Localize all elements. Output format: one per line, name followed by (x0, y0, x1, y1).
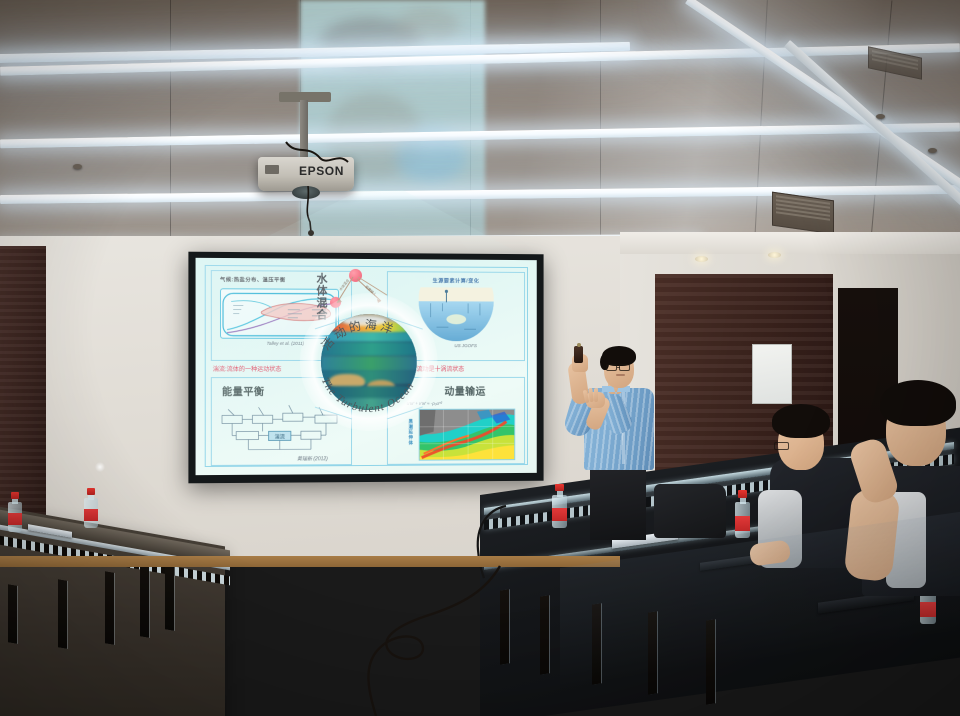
wall-light-spot (95, 462, 105, 472)
attendee-2-hair (880, 380, 956, 426)
attendee-2 (840, 378, 960, 608)
presenter-finger (594, 388, 598, 402)
desk-slat (165, 559, 174, 631)
smoke-detector-icon (73, 164, 82, 169)
presenter-glasses-bridge (617, 367, 620, 368)
presenter-remote-tip-icon (577, 343, 581, 347)
projection-screen: 气候:热盐分布、温压平衡 Talley et al. (2011) (196, 258, 537, 475)
projector-ir-sensor-icon (265, 165, 279, 174)
attendee-1-hair (772, 404, 830, 438)
desk-slat (648, 611, 657, 694)
smoke-detector-icon (876, 114, 885, 119)
water-bottle[interactable] (8, 492, 22, 532)
smoke-detector-icon (928, 148, 937, 153)
desk-slat (140, 564, 149, 638)
conference-room-scene: EPSON 气候:热盐分布、温压平衡 (0, 0, 960, 716)
floor-power-cable (250, 560, 570, 716)
water-bottle[interactable] (84, 488, 98, 528)
recessed-downlight (768, 252, 781, 258)
ceiling (0, 0, 960, 262)
attendee-1-glasses (774, 442, 789, 450)
desk-slat (706, 619, 715, 704)
slide-connector-lines (196, 258, 537, 475)
left-wood-panel (0, 246, 46, 536)
projector-hanging-cable (300, 186, 340, 236)
recessed-downlight (695, 256, 708, 262)
presenter-remote[interactable] (574, 346, 583, 363)
desk-slat (8, 584, 17, 644)
projection-screen-frame: 气候:热盐分布、温压平衡 Talley et al. (2011) (188, 252, 543, 484)
presenter (556, 340, 676, 530)
projector-cable (282, 140, 352, 170)
presenter-glasses-right-lens (619, 364, 630, 371)
desk-slat (58, 579, 67, 649)
presenter-mouth (616, 374, 625, 376)
presenter-trousers (590, 466, 646, 540)
desk-slat (105, 571, 114, 645)
ceiling-soffit (620, 232, 960, 254)
desk-slat (592, 603, 601, 684)
presenter-glasses-left-lens (606, 364, 617, 371)
